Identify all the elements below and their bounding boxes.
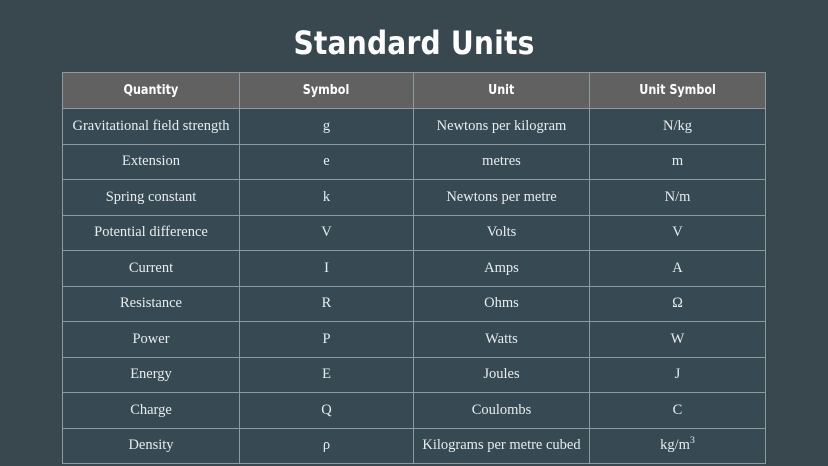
table-row: Resistance R Ohms Ω [63, 286, 766, 322]
cell-symbol: e [240, 144, 414, 180]
cell-quantity: Energy [63, 357, 240, 393]
column-header-symbol: Symbol [240, 73, 414, 109]
table-row: Density ρ Kilograms per metre cubed kg/m… [63, 428, 766, 464]
cell-symbol: ρ [240, 428, 414, 464]
table-header: Quantity Symbol Unit Unit Symbol [63, 73, 766, 109]
cell-unit: Watts [414, 322, 590, 358]
cell-quantity: Potential difference [63, 215, 240, 251]
column-header-unit-symbol: Unit Symbol [590, 73, 766, 109]
cell-unit-symbol-base: kg/m [660, 437, 690, 453]
cell-unit: Volts [414, 215, 590, 251]
column-header-quantity-label: Quantity [124, 83, 179, 98]
cell-unit: Newtons per kilogram [414, 109, 590, 145]
cell-symbol: V [240, 215, 414, 251]
table-row: Gravitational field strength g Newtons p… [63, 109, 766, 145]
cell-unit-symbol: C [590, 393, 766, 429]
cell-quantity: Spring constant [63, 180, 240, 216]
cell-unit: Ohms [414, 286, 590, 322]
cell-symbol: R [240, 286, 414, 322]
cell-unit-symbol: J [590, 357, 766, 393]
table-row: Potential difference V Volts V [63, 215, 766, 251]
cell-quantity: Density [63, 428, 240, 464]
cell-unit-symbol: m [590, 144, 766, 180]
cell-unit: Kilograms per metre cubed [414, 428, 590, 464]
cell-unit-symbol: Ω [590, 286, 766, 322]
cell-unit-symbol: W [590, 322, 766, 358]
column-header-symbol-label: Symbol [303, 83, 350, 98]
table-header-row: Quantity Symbol Unit Unit Symbol [63, 73, 766, 109]
cell-quantity: Resistance [63, 286, 240, 322]
cell-symbol: I [240, 251, 414, 287]
table-row: Energy E Joules J [63, 357, 766, 393]
cell-symbol: E [240, 357, 414, 393]
cell-quantity: Gravitational field strength [63, 109, 240, 145]
cell-symbol: P [240, 322, 414, 358]
cell-quantity: Power [63, 322, 240, 358]
cell-unit: Amps [414, 251, 590, 287]
cell-symbol: g [240, 109, 414, 145]
table-row: Charge Q Coulombs C [63, 393, 766, 429]
cell-unit-symbol: kg/m3 [590, 428, 766, 464]
table-row: Extension e metres m [63, 144, 766, 180]
cell-symbol: Q [240, 393, 414, 429]
cell-quantity: Current [63, 251, 240, 287]
cell-unit-symbol: N/m [590, 180, 766, 216]
column-header-quantity: Quantity [63, 73, 240, 109]
standard-units-table: Quantity Symbol Unit Unit Symbol Gravita… [62, 72, 766, 464]
table-row: Current I Amps A [63, 251, 766, 287]
column-header-unit-label: Unit [488, 83, 514, 98]
column-header-unit-symbol-label: Unit Symbol [639, 83, 716, 98]
cell-unit: Newtons per metre [414, 180, 590, 216]
cell-unit-symbol: N/kg [590, 109, 766, 145]
cell-symbol: k [240, 180, 414, 216]
cell-unit-symbol: A [590, 251, 766, 287]
slide: Standard Units Quantity Symbol Unit Unit… [0, 0, 828, 466]
column-header-unit: Unit [414, 73, 590, 109]
table-row: Power P Watts W [63, 322, 766, 358]
cell-unit: Joules [414, 357, 590, 393]
table-row: Spring constant k Newtons per metre N/m [63, 180, 766, 216]
cell-unit-symbol: V [590, 215, 766, 251]
table-body: Gravitational field strength g Newtons p… [63, 109, 766, 464]
cell-quantity: Charge [63, 393, 240, 429]
cell-unit-symbol-exponent: 3 [690, 435, 695, 446]
cell-unit: metres [414, 144, 590, 180]
cell-quantity: Extension [63, 144, 240, 180]
cell-unit: Coulombs [414, 393, 590, 429]
standard-units-table-container: Quantity Symbol Unit Unit Symbol Gravita… [62, 72, 765, 464]
page-title: Standard Units [50, 24, 779, 62]
